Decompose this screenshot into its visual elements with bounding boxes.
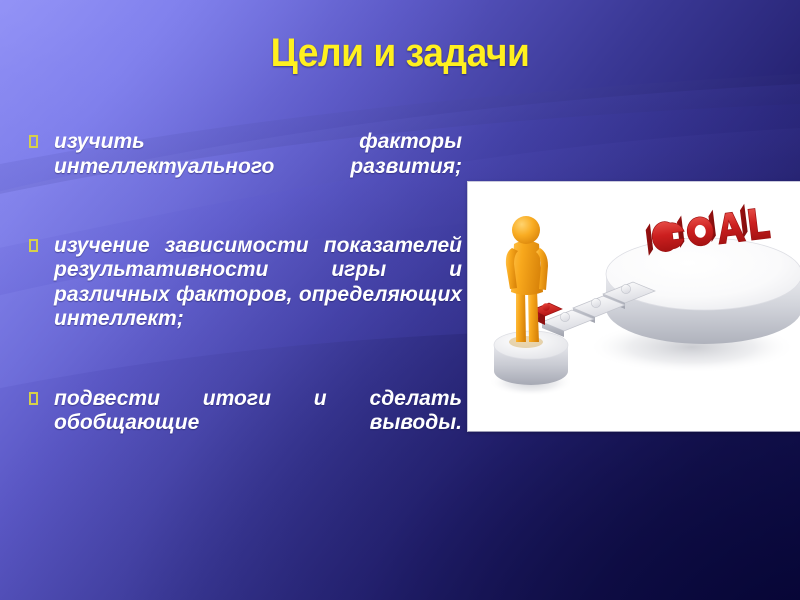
goal-illustration [467, 181, 800, 432]
hollow-square-bullet-icon [29, 135, 38, 148]
list-item: подвести итоги и сделать обобщающие выво… [22, 387, 462, 461]
list-item: изучение зависимости показателей результ… [22, 234, 462, 357]
list-item-text: изучить факторы интеллектуального развит… [54, 130, 462, 202]
hollow-square-bullet-icon [29, 239, 38, 252]
bullet-list: изучить факторы интеллектуального развит… [22, 130, 462, 460]
presentation-slide: Цели и задачи изучить факторы интеллекту… [0, 0, 800, 600]
slide-title: Цели и задачи [28, 32, 772, 74]
hollow-square-bullet-icon [29, 392, 38, 405]
list-item-text: подвести итоги и сделать обобщающие выво… [54, 387, 462, 459]
list-item: изучить факторы интеллектуального развит… [22, 130, 462, 204]
list-item-text: изучение зависимости показателей результ… [54, 234, 462, 355]
